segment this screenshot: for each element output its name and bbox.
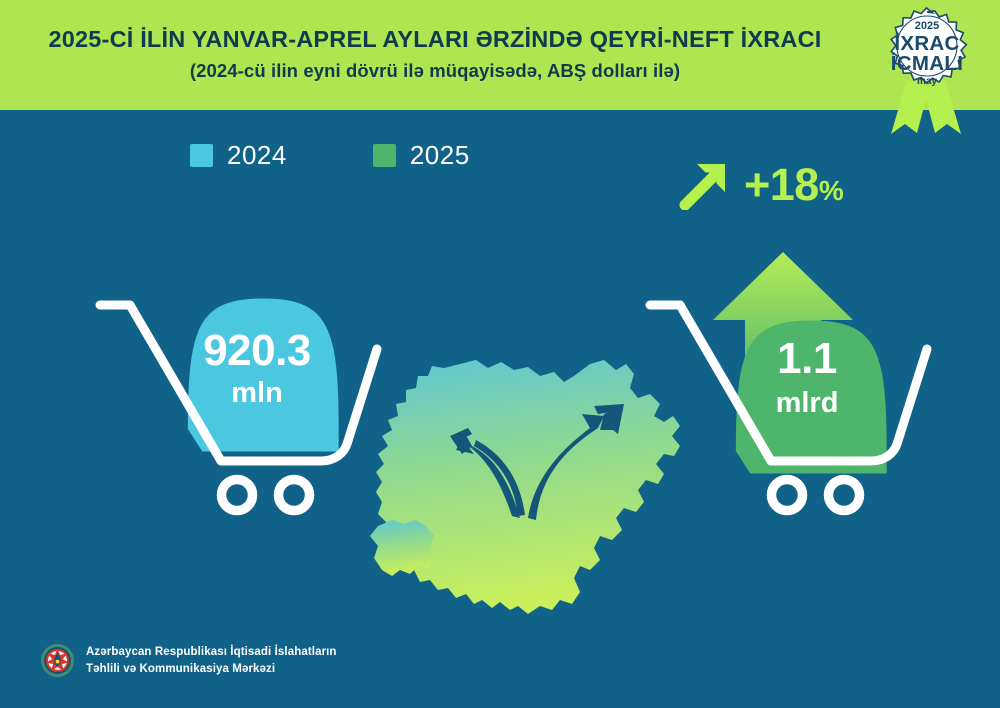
cart-2024: 920.3 mln <box>85 276 385 521</box>
legend-label-2024: 2024 <box>227 140 287 171</box>
footer-line-1: Azərbaycan Respublikası İqtisadi İslahat… <box>86 644 337 660</box>
page-subtitle: (2024-cü ilin eyni dövrü ilə müqayisədə,… <box>30 60 840 82</box>
map-nakhchivan-shape <box>370 520 436 576</box>
badge-line2: İCMALI <box>891 52 963 75</box>
growth-number: +18 <box>744 159 819 210</box>
legend-item-2024: 2024 <box>190 140 287 171</box>
title-block: 2025-Cİ İLİN YANVAR-APREL AYLARI ƏRZİNDƏ… <box>30 26 840 82</box>
legend-swatch-2024 <box>190 144 213 167</box>
cart-2025-unit: mlrd <box>776 387 839 419</box>
legend: 2024 2025 <box>190 140 470 171</box>
cart-2025-value: 1.1 <box>777 334 837 383</box>
map-mainland-shape <box>376 360 680 614</box>
badge-ribbon-icon <box>891 80 961 134</box>
cart-2024-unit: mln <box>231 377 283 409</box>
legend-swatch-2025 <box>373 144 396 167</box>
azerbaijan-emblem-icon <box>40 643 75 678</box>
growth-indicator: +18% <box>678 158 843 210</box>
azerbaijan-map <box>368 358 708 626</box>
footer-text: Azərbaycan Respublikası İqtisadi İslahat… <box>86 644 337 677</box>
growth-percent-sign: % <box>819 175 843 206</box>
cart-2024-wheels-icon <box>222 480 310 511</box>
arrow-up-right-icon <box>678 158 732 210</box>
legend-label-2025: 2025 <box>410 140 470 171</box>
footer-line-2: Təhlili və Kommunikasiya Mərkəzi <box>86 661 337 677</box>
infographic-poster: 2025-Cİ İLİN YANVAR-APREL AYLARI ƏRZİNDƏ… <box>0 0 1000 708</box>
legend-item-2025: 2025 <box>373 140 470 171</box>
cart-2024-value: 920.3 <box>203 326 311 375</box>
growth-value: +18% <box>744 162 843 207</box>
badge-year: 2025 <box>915 20 939 32</box>
badge-month: may <box>917 76 937 87</box>
footer: Azərbaycan Respublikası İqtisadi İslahat… <box>40 643 337 678</box>
export-review-badge: 2025 İXRAC İCMALI may <box>855 2 1000 134</box>
cart-2025-wheels-icon <box>772 480 860 511</box>
page-title: 2025-Cİ İLİN YANVAR-APREL AYLARI ƏRZİNDƏ… <box>30 26 840 53</box>
